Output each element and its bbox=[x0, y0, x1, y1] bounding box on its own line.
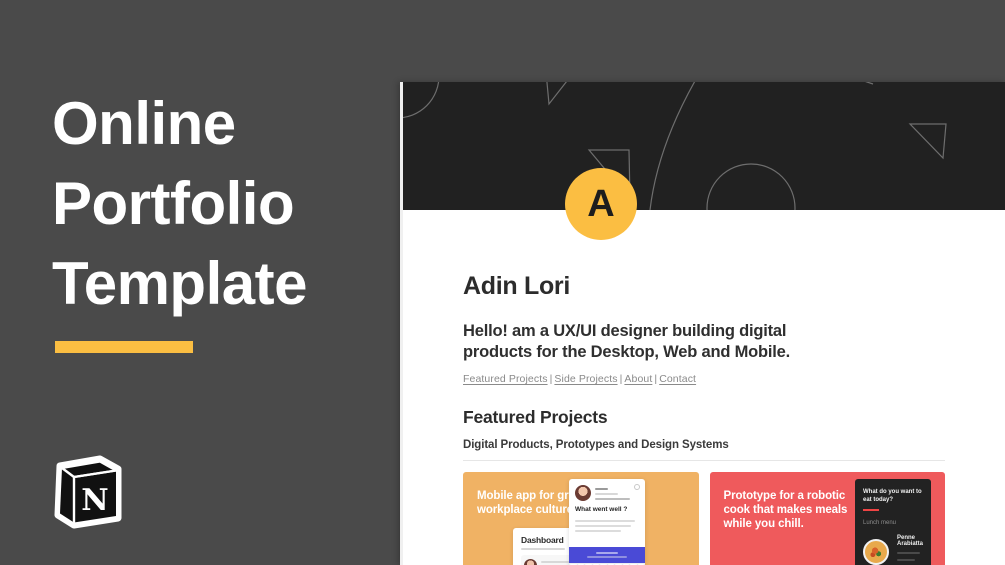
title-line-3: Template bbox=[52, 244, 392, 324]
feedback-card-mockup: What went well ? bbox=[569, 479, 645, 565]
promo-panel: Online Portfolio Template N bbox=[0, 0, 400, 565]
section-subheading: Digital Products, Prototypes and Design … bbox=[463, 439, 945, 451]
page-content: Adin Lori Hello! am a UX/UI designer bui… bbox=[403, 210, 1005, 565]
person-avatar-icon bbox=[575, 485, 591, 501]
profile-bio: Hello! am a UX/UI designer building digi… bbox=[463, 321, 803, 363]
section-heading: Featured Projects bbox=[463, 407, 945, 428]
nav-link-about[interactable]: About bbox=[624, 373, 652, 385]
screenshot-root: Online Portfolio Template N bbox=[0, 0, 1005, 565]
project-card-title: Prototype for a robotic cook that makes … bbox=[724, 489, 852, 531]
avatar-letter: A bbox=[587, 185, 614, 223]
nav-link-side-projects[interactable]: Side Projects bbox=[554, 373, 617, 385]
project-card-mobile-app[interactable]: Mobile app for great workplace cultures.… bbox=[463, 472, 699, 565]
project-card-robotic-cook[interactable]: Prototype for a robotic cook that makes … bbox=[710, 472, 946, 565]
dashboard-mockup-subtitle-bar bbox=[521, 548, 565, 550]
dish-details: Penne Arabiatta bbox=[897, 533, 923, 565]
portfolio-preview: A Adin Lori Hello! am a UX/UI designer b… bbox=[400, 82, 1005, 565]
phone-mockup-accent bbox=[863, 509, 879, 511]
close-icon[interactable] bbox=[634, 484, 640, 490]
nav-link-contact[interactable]: Contact bbox=[659, 373, 696, 385]
project-grid: Mobile app for great workplace cultures.… bbox=[463, 472, 945, 565]
phone-mockup-question: What do you want to eat today? bbox=[863, 488, 923, 504]
robot-cook-phone-mockup: What do you want to eat today? Lunch men… bbox=[855, 479, 931, 565]
feedback-question: What went well ? bbox=[569, 501, 645, 513]
phone-mockup-menu-label: Lunch menu bbox=[863, 520, 923, 526]
notion-logo-icon: N bbox=[50, 452, 125, 532]
nav-link-featured-projects[interactable]: Featured Projects bbox=[463, 373, 548, 385]
feedback-sender-row bbox=[569, 479, 645, 501]
accent-rule bbox=[55, 341, 193, 353]
svg-text:N: N bbox=[81, 483, 108, 518]
section-divider bbox=[463, 460, 945, 461]
dish-name: Penne Arabiatta bbox=[897, 535, 923, 547]
title-line-2: Portfolio bbox=[52, 164, 392, 244]
cover-image[interactable] bbox=[403, 82, 1005, 210]
dish-photo-icon bbox=[863, 539, 889, 565]
feedback-body bbox=[569, 513, 645, 532]
profile-name: Adin Lori bbox=[463, 272, 945, 301]
title-line-1: Online bbox=[52, 84, 392, 164]
person-avatar-icon bbox=[524, 559, 537, 565]
phone-mockup-menu-item: Penne Arabiatta Penne Arabiatta bbox=[863, 533, 923, 565]
feedback-next-button[interactable] bbox=[569, 547, 645, 563]
avatar[interactable]: A bbox=[565, 168, 637, 240]
nav-links: Featured Projects|Side Projects|About|Co… bbox=[463, 373, 945, 385]
page-title: Online Portfolio Template bbox=[52, 84, 392, 324]
